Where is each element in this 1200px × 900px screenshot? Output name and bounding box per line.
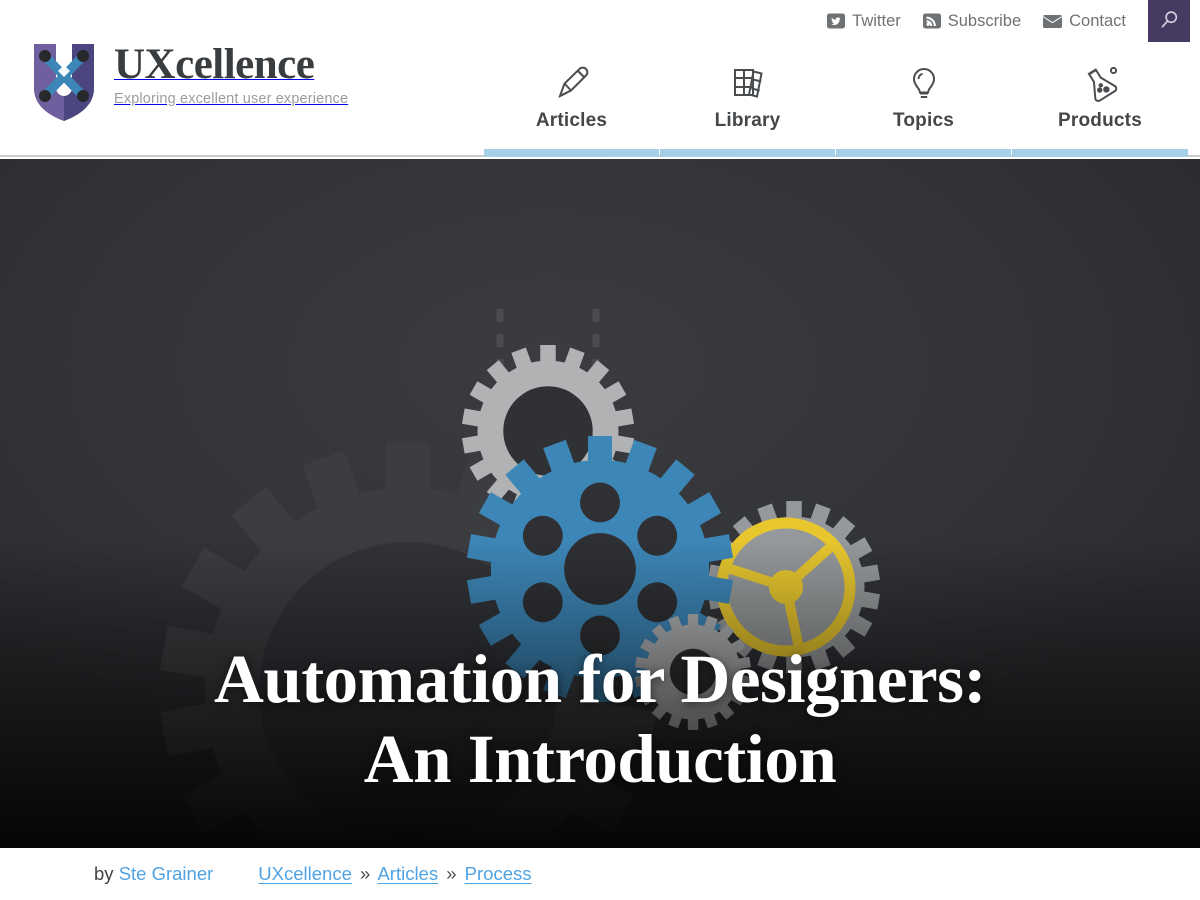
rss-icon xyxy=(923,12,941,30)
page-title-line-2: An Introduction xyxy=(0,719,1200,799)
nav-label: Articles xyxy=(536,110,607,132)
nav-label: Library xyxy=(715,110,781,132)
breadcrumb-separator: » xyxy=(360,863,370,884)
brand-title: UXcellence xyxy=(114,41,314,88)
utility-link-twitter[interactable]: Twitter xyxy=(827,12,901,30)
utility-link-label: Subscribe xyxy=(948,13,1021,30)
search-button[interactable] xyxy=(1148,0,1190,42)
breadcrumb-item-articles[interactable]: Articles xyxy=(377,863,438,884)
site-logo-link[interactable]: UXcellence Exploring excellent user expe… xyxy=(28,40,348,127)
byline: by Ste Grainer xyxy=(94,863,213,885)
utility-link-label: Contact xyxy=(1069,13,1126,30)
page-title-line-1: Automation for Designers: xyxy=(0,639,1200,719)
lightbulb-icon xyxy=(902,60,946,108)
nav-item-articles[interactable]: Articles xyxy=(484,60,659,157)
breadcrumb-separator: » xyxy=(446,863,456,884)
nav-item-products[interactable]: Products xyxy=(1012,60,1188,157)
main-navigation: Articles Library xyxy=(484,60,1200,157)
utility-bar: Twitter Subscribe Contact xyxy=(0,0,1200,42)
utility-link-subscribe[interactable]: Subscribe xyxy=(923,12,1021,30)
page-title: Automation for Designers: An Introductio… xyxy=(0,639,1200,799)
article-meta-bar: by Ste Grainer UXcellence » Articles » P… xyxy=(0,848,1200,900)
nav-label: Topics xyxy=(893,110,954,132)
search-icon xyxy=(1158,9,1180,34)
brand-tagline: Exploring excellent user experience xyxy=(114,91,348,107)
nav-item-library[interactable]: Library xyxy=(660,60,835,157)
envelope-icon xyxy=(1043,14,1062,29)
twitter-icon xyxy=(827,12,845,30)
shield-x-logo-icon xyxy=(28,40,100,127)
byline-prefix: by xyxy=(94,863,114,884)
breadcrumb: UXcellence » Articles » Process xyxy=(258,863,531,885)
flask-icon xyxy=(1077,60,1123,108)
nav-underline xyxy=(836,149,1011,157)
nav-underline xyxy=(1012,149,1188,157)
breadcrumb-item-process[interactable]: Process xyxy=(465,863,532,884)
pencil-icon xyxy=(550,60,594,108)
nav-underline xyxy=(484,149,659,157)
utility-link-contact[interactable]: Contact xyxy=(1043,13,1126,30)
nav-underline xyxy=(660,149,835,157)
books-icon xyxy=(726,60,770,108)
hero-banner: Automation for Designers: An Introductio… xyxy=(0,159,1200,848)
utility-link-label: Twitter xyxy=(852,13,901,30)
breadcrumb-item-uxcellence[interactable]: UXcellence xyxy=(258,863,352,884)
nav-item-topics[interactable]: Topics xyxy=(836,60,1011,157)
nav-label: Products xyxy=(1058,110,1142,132)
author-link[interactable]: Ste Grainer xyxy=(119,863,214,884)
